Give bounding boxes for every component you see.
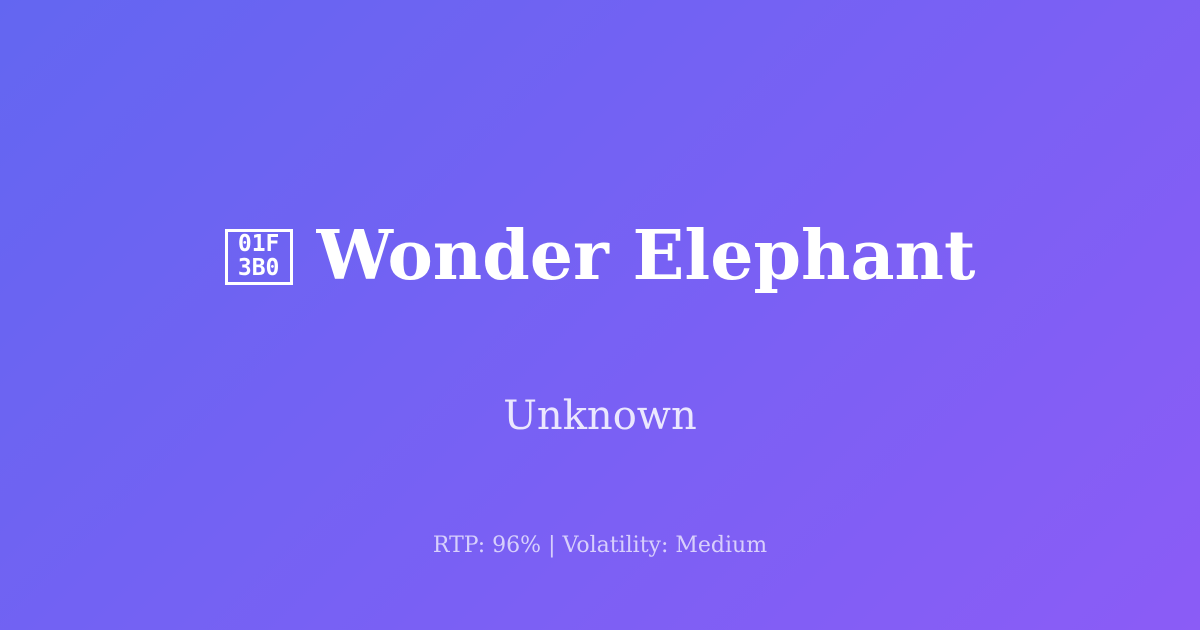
- title-row: 01F 3B0 Wonder Elephant: [0, 176, 1200, 338]
- game-stats: RTP: 96% | Volatility: Medium: [0, 533, 1200, 559]
- slot-machine-icon: 01F 3B0: [225, 229, 293, 285]
- tofu-codepoint-bottom: 3B0: [238, 257, 280, 281]
- page-title: Wonder Elephant: [317, 221, 976, 292]
- game-preview-card: 01F 3B0 Wonder Elephant Unknown RTP: 96%…: [0, 0, 1200, 630]
- tofu-codepoint-top: 01F: [238, 233, 280, 257]
- provider-name: Unknown: [503, 394, 697, 438]
